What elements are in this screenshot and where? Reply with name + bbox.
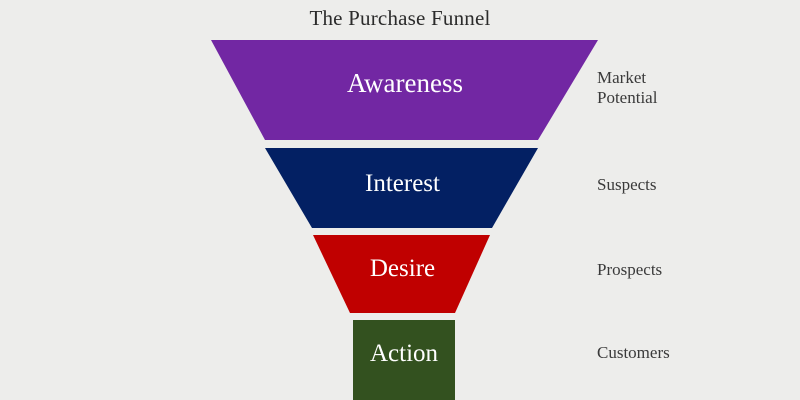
funnel-segment-desire[interactable]	[313, 235, 490, 313]
funnel-segment-interest[interactable]	[265, 148, 538, 228]
side-label-customers: Customers	[597, 343, 670, 363]
funnel-shapes	[0, 0, 800, 400]
side-label-suspects: Suspects	[597, 175, 657, 195]
funnel-segment-awareness[interactable]	[211, 40, 598, 140]
funnel-segment-action[interactable]	[353, 320, 455, 400]
side-label-prospects: Prospects	[597, 260, 662, 280]
side-label-market-potential: Market Potential	[597, 68, 657, 108]
funnel-diagram-canvas: The Purchase Funnel Awareness Interest D…	[0, 0, 800, 400]
